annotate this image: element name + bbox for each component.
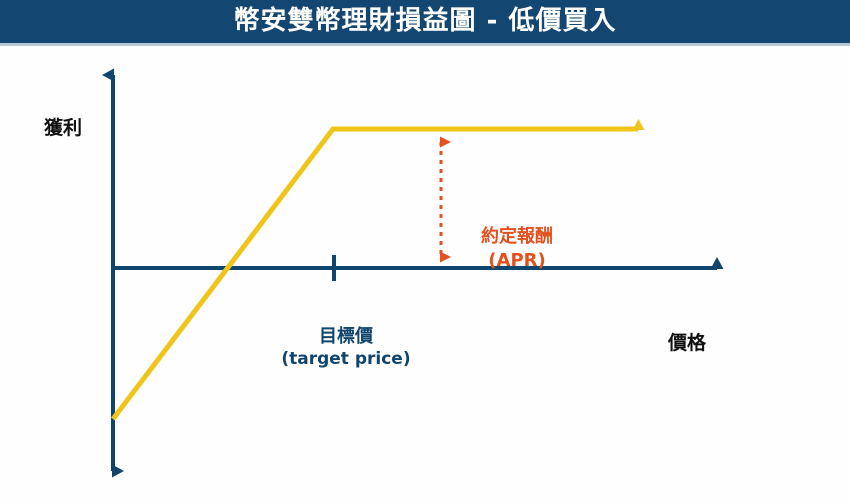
y-axis-top-label: 獲利 (44, 113, 82, 140)
target-price-label-en: (target price) (266, 348, 426, 370)
apr-label-en: (APR) (452, 249, 582, 273)
payoff-chart: 獲利 損失 價格 目標價 (target price) 約定報酬 (APR) (0, 43, 850, 502)
x-axis-right-label: 價格 (668, 328, 706, 355)
apr-label-cn: 約定報酬 (452, 225, 582, 249)
apr-label: 約定報酬 (APR) (452, 225, 582, 273)
y-axis-bottom-label: 損失 (44, 498, 82, 502)
target-price-label: 目標價 (target price) (266, 326, 426, 370)
chart-svg (0, 43, 850, 502)
payoff-line (113, 129, 638, 419)
target-price-label-cn: 目標價 (266, 326, 426, 348)
page-title: 幣安雙幣理財損益圖 - 低價買入 (0, 0, 850, 43)
slide-canvas: 幣安雙幣理財損益圖 - 低價買入 (0, 0, 850, 502)
